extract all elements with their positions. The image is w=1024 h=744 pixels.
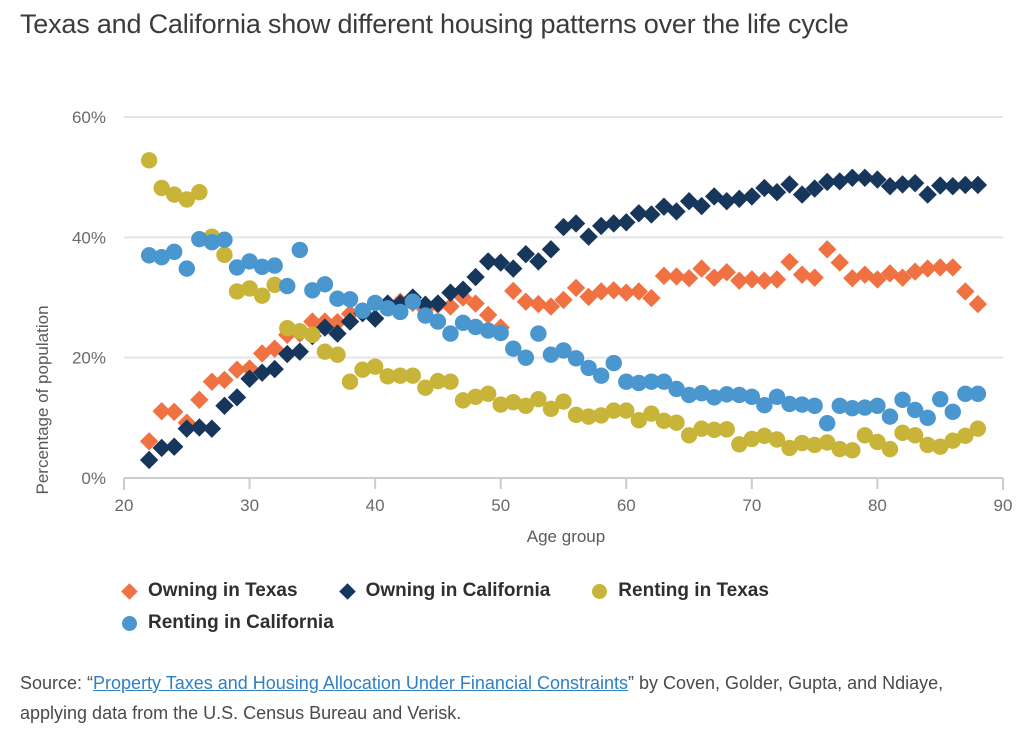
data-point <box>279 278 295 294</box>
data-point <box>768 270 786 288</box>
x-axis-line <box>124 478 1003 490</box>
data-point <box>466 268 484 286</box>
data-point <box>442 374 458 390</box>
data-point <box>479 306 497 324</box>
legend-item-label: Renting in California <box>148 612 334 634</box>
diamond-marker-icon <box>339 583 356 600</box>
x-tick-label: 80 <box>868 496 887 515</box>
x-axis-ticks: 2030405060708090 <box>115 478 1013 515</box>
data-point <box>819 415 835 431</box>
data-point <box>405 368 421 384</box>
source-prefix: Source: “ <box>20 673 93 693</box>
data-point <box>166 244 182 260</box>
page-title: Texas and California show different hous… <box>20 6 940 42</box>
legend-item-owning-california[interactable]: Owning in California <box>340 578 551 604</box>
data-point <box>190 391 208 409</box>
data-point <box>266 257 282 273</box>
data-point <box>806 398 822 414</box>
data-point <box>919 410 935 426</box>
data-point <box>555 393 571 409</box>
data-point <box>668 414 684 430</box>
data-point <box>191 184 207 200</box>
data-point <box>215 371 233 389</box>
x-axis-title: Age group <box>527 527 605 546</box>
data-point <box>442 325 458 341</box>
data-point <box>140 451 158 469</box>
data-point <box>970 386 986 402</box>
chart-plot-area: 0%20%40%60% 2030405060708090 Age group P… <box>0 100 1024 560</box>
data-point <box>165 438 183 456</box>
x-tick-label: 60 <box>617 496 636 515</box>
data-point <box>480 386 496 402</box>
y-tick-label: 40% <box>72 228 106 247</box>
scatter-plot-svg: 0%20%40%60% 2030405060708090 Age group P… <box>0 100 1024 560</box>
data-point <box>970 420 986 436</box>
data-point <box>542 240 560 258</box>
data-point <box>329 346 345 362</box>
legend-item-label: Owning in Texas <box>148 580 298 602</box>
data-point <box>216 232 232 248</box>
data-point <box>818 240 836 258</box>
data-point <box>504 282 522 300</box>
data-points <box>140 152 987 469</box>
data-point <box>944 258 962 276</box>
data-point <box>719 421 735 437</box>
circle-marker-icon <box>592 584 607 599</box>
x-tick-label: 50 <box>491 496 510 515</box>
data-point <box>254 287 270 303</box>
data-point <box>405 294 421 310</box>
gridlines <box>124 117 1003 358</box>
data-point <box>292 242 308 258</box>
data-point <box>969 295 987 313</box>
y-tick-label: 60% <box>72 108 106 127</box>
legend-item-label: Renting in Texas <box>618 580 769 602</box>
source-link[interactable]: Property Taxes and Housing Allocation Un… <box>93 673 628 693</box>
data-point <box>317 276 333 292</box>
data-point <box>882 441 898 457</box>
data-point <box>805 268 823 286</box>
y-tick-label: 0% <box>81 469 106 488</box>
data-point <box>932 391 948 407</box>
x-tick-label: 30 <box>240 496 259 515</box>
x-tick-label: 70 <box>742 496 761 515</box>
x-tick-label: 40 <box>366 496 385 515</box>
legend-item-owning-texas[interactable]: Owning in Texas <box>122 578 298 604</box>
data-point <box>945 404 961 420</box>
data-point <box>342 291 358 307</box>
data-point <box>304 327 320 343</box>
data-point <box>882 408 898 424</box>
data-point <box>606 355 622 371</box>
data-point <box>141 152 157 168</box>
data-point <box>831 253 849 271</box>
series-owning-in-california <box>140 169 987 470</box>
data-point <box>969 176 987 194</box>
data-point <box>165 403 183 421</box>
data-point <box>579 228 597 246</box>
chart-legend: Owning in TexasOwning in CaliforniaRenti… <box>122 578 1002 642</box>
y-tick-label: 20% <box>72 349 106 368</box>
data-point <box>518 349 534 365</box>
data-point <box>430 313 446 329</box>
data-point <box>844 442 860 458</box>
data-point <box>680 269 698 287</box>
diamond-marker-icon <box>121 583 138 600</box>
data-point <box>179 260 195 276</box>
source-note: Source: “Property Taxes and Housing Allo… <box>20 668 1000 728</box>
data-point <box>869 398 885 414</box>
data-point <box>780 253 798 271</box>
circle-marker-icon <box>122 616 137 631</box>
data-point <box>906 174 924 192</box>
legend-item-renting-california[interactable]: Renting in California <box>122 610 960 636</box>
data-point <box>493 325 509 341</box>
legend-item-label: Owning in California <box>366 580 551 602</box>
data-point <box>203 419 221 437</box>
data-point <box>342 374 358 390</box>
legend-item-renting-texas[interactable]: Renting in Texas <box>592 578 769 604</box>
data-point <box>593 368 609 384</box>
chart-page: Texas and California show different hous… <box>0 0 1024 744</box>
data-point <box>530 325 546 341</box>
x-tick-label: 90 <box>994 496 1013 515</box>
x-tick-label: 20 <box>115 496 134 515</box>
data-point <box>216 247 232 263</box>
data-point <box>956 282 974 300</box>
y-axis-title: Percentage of population <box>33 305 52 494</box>
y-axis-ticks: 0%20%40%60% <box>72 108 106 488</box>
